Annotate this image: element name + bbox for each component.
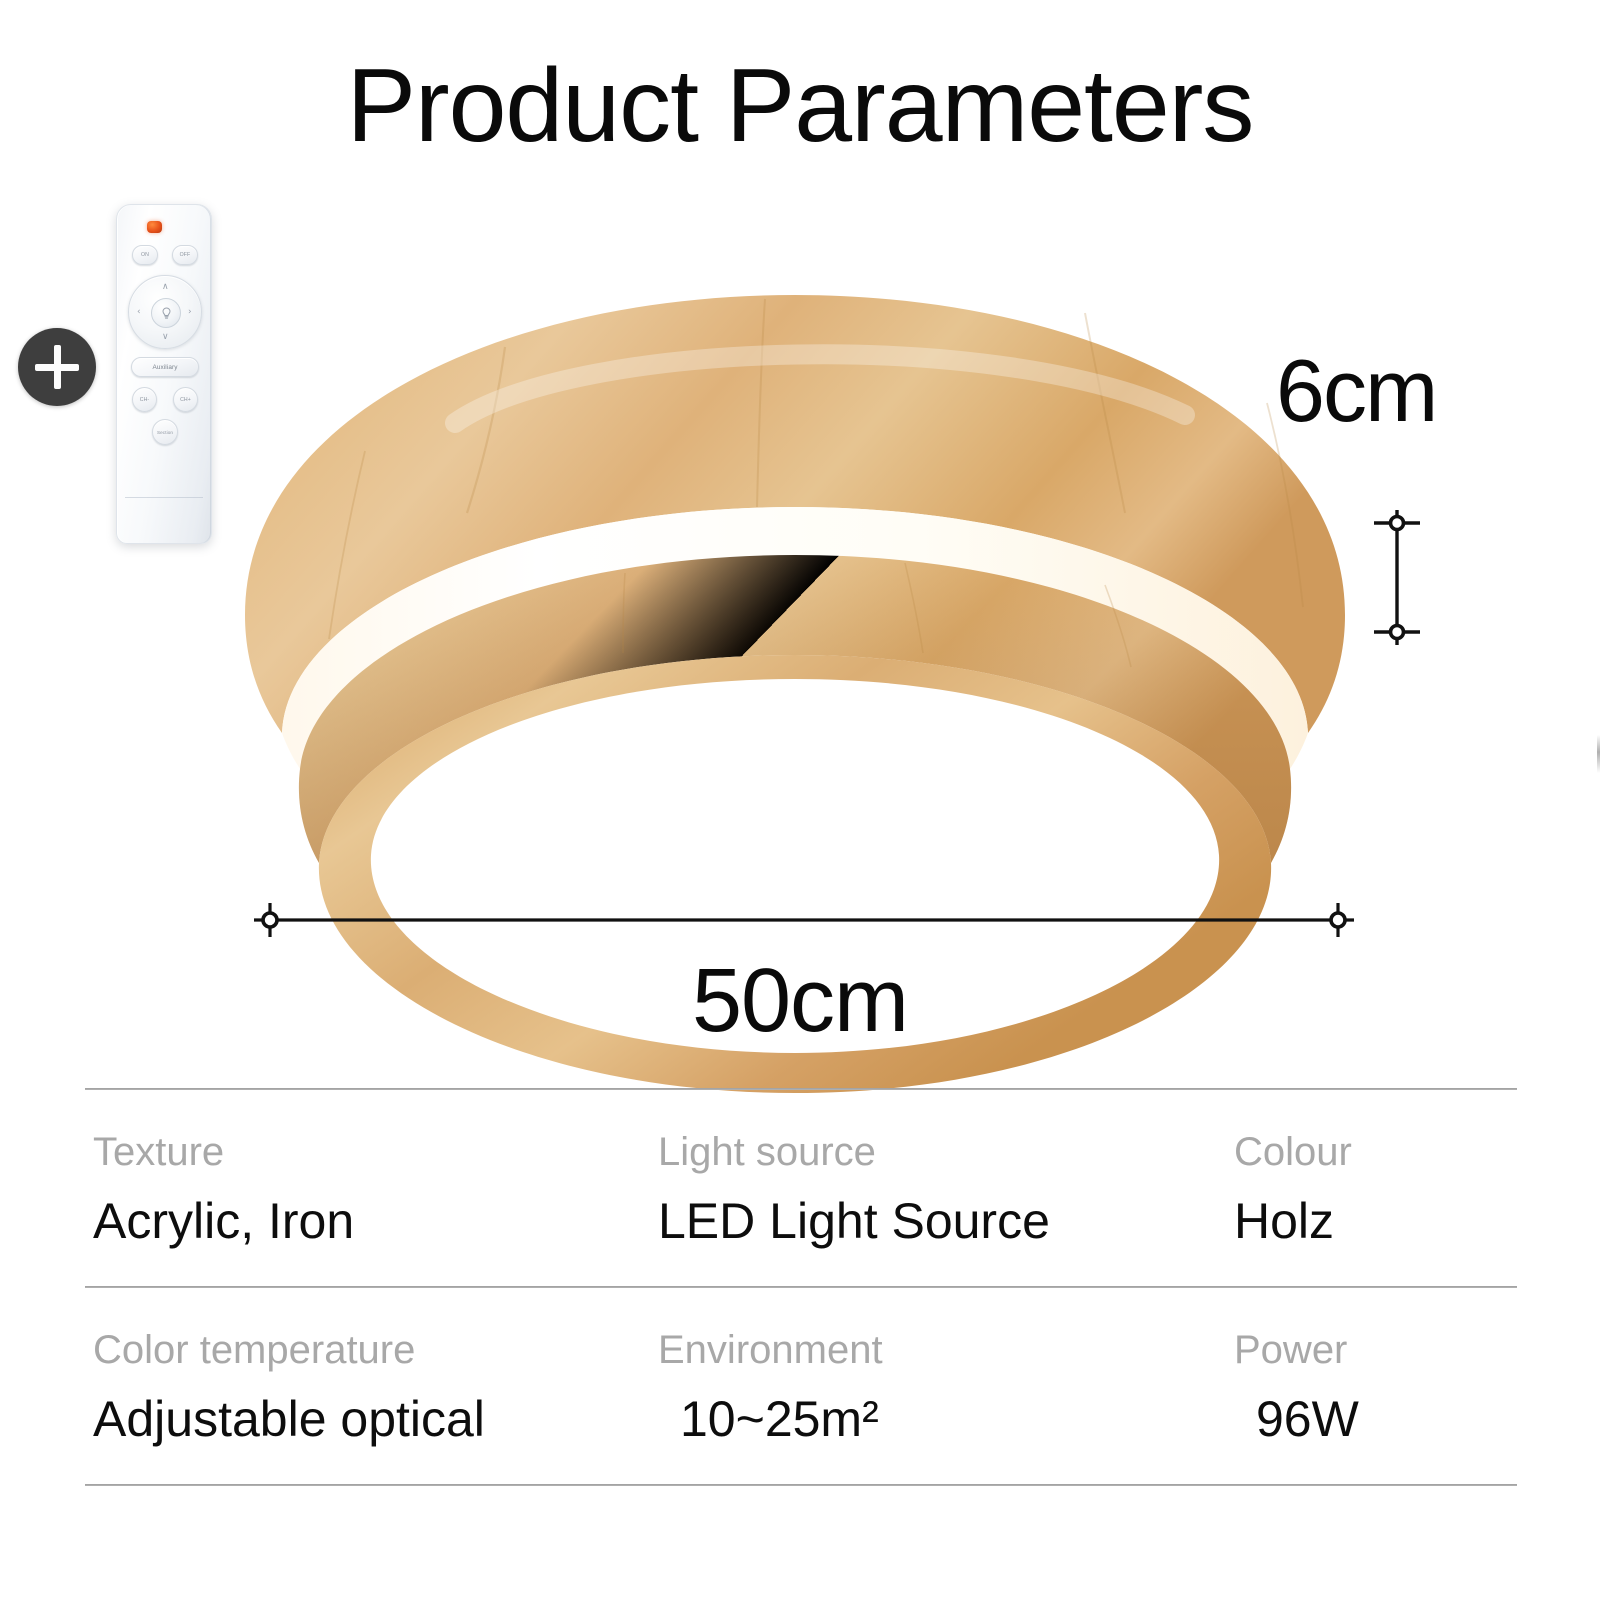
spec-divider-bottom xyxy=(85,1484,1517,1486)
remote-center-button[interactable] xyxy=(151,298,181,328)
product-spec-table: Texture Acrylic, Iron Light source LED L… xyxy=(85,1088,1517,1486)
chevron-down-icon[interactable]: ∨ xyxy=(162,333,169,342)
spec-label: Environment xyxy=(658,1330,1230,1370)
remote-off-button[interactable]: OFF xyxy=(172,245,198,265)
spec-label: Colour xyxy=(1234,1132,1517,1172)
dimension-horizontal-marker-icon xyxy=(248,898,1360,942)
spec-cell-colour: Colour Holz xyxy=(1230,1132,1517,1246)
spec-cell-light-source: Light source LED Light Source xyxy=(650,1132,1230,1246)
dimension-vertical-line xyxy=(1362,505,1432,650)
dimension-horizontal-line xyxy=(248,898,1360,942)
remote-led-indicator xyxy=(147,221,162,233)
lamp-illustration xyxy=(205,255,1385,905)
remote-section-button[interactable]: Section xyxy=(152,419,178,445)
spec-value: 96W xyxy=(1234,1394,1517,1444)
spec-cell-color-temperature: Color temperature Adjustable optical xyxy=(85,1330,650,1444)
spec-value: Adjustable optical xyxy=(93,1394,650,1444)
spec-label: Texture xyxy=(93,1132,650,1172)
chevron-up-icon[interactable]: ∧ xyxy=(162,283,169,292)
expand-plus-badge[interactable] xyxy=(18,328,96,406)
remote-ch-minus-button[interactable]: CH- xyxy=(132,387,157,412)
spec-row: Texture Acrylic, Iron Light source LED L… xyxy=(85,1090,1517,1286)
dimension-width-label: 50cm xyxy=(0,950,1600,1053)
plus-icon-vertical xyxy=(54,345,61,389)
spec-label: Color temperature xyxy=(93,1330,650,1370)
remote-on-button[interactable]: ON xyxy=(132,245,158,265)
product-image-wood-ring-ceiling-lamp xyxy=(205,255,1385,905)
remote-battery-seam xyxy=(125,497,203,498)
remote-ch-plus-button[interactable]: CH+ xyxy=(173,387,198,412)
spec-value: Acrylic, Iron xyxy=(93,1196,650,1246)
spec-value: LED Light Source xyxy=(658,1196,1230,1246)
spec-row: Color temperature Adjustable optical Env… xyxy=(85,1288,1517,1484)
spec-value: 10~25m² xyxy=(658,1394,1230,1444)
spec-cell-power: Power 96W xyxy=(1230,1330,1517,1444)
dimension-height-label: 6cm xyxy=(1276,340,1436,442)
remote-control: ON OFF ∧ ∨ ‹ › Auxiliary CH- CH+ Section xyxy=(116,204,212,544)
page-title: Product Parameters xyxy=(0,52,1600,161)
spec-label: Power xyxy=(1234,1330,1517,1370)
chevron-left-icon[interactable]: ‹ xyxy=(137,308,141,317)
chevron-right-icon[interactable]: › xyxy=(188,308,192,317)
spec-cell-texture: Texture Acrylic, Iron xyxy=(85,1132,650,1246)
light-bulb-icon xyxy=(159,306,174,321)
spec-cell-environment: Environment 10~25m² xyxy=(650,1330,1230,1444)
remote-dpad[interactable]: ∧ ∨ ‹ › xyxy=(128,275,202,349)
spec-label: Light source xyxy=(658,1132,1230,1172)
dimension-vertical-marker-icon xyxy=(1362,505,1432,650)
spec-value: Holz xyxy=(1234,1196,1517,1246)
remote-auxiliary-button[interactable]: Auxiliary xyxy=(131,357,199,377)
